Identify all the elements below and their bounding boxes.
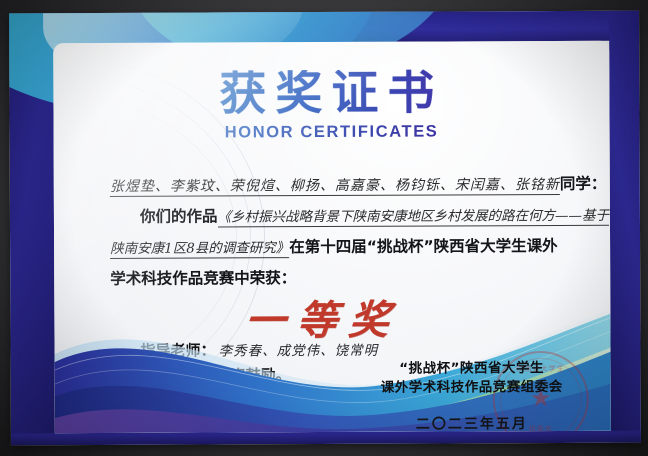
certificate-document: 获奖证书 HONOR CERTIFICATES 张煜垫、李紫玟、荣倪煊、柳扬、高… (0, 0, 648, 456)
issuer-line-2: 课外学术科技作品竞赛组委会 (381, 378, 563, 398)
certificate-paper: 获奖证书 HONOR CERTIFICATES 张煜垫、李紫玟、荣倪煊、柳扬、高… (53, 41, 611, 433)
competition-result-label: 学术科技作品竞赛中荣获： (110, 269, 296, 288)
work-label: 你们的作品 (140, 207, 218, 225)
advisor-names: 李秀春、成党伟、饶常明 (219, 343, 379, 360)
issuer-block: “挑战杯”陕西省大学生 课外学术科技作品竞赛组委会 二〇二三年五月 (381, 359, 563, 433)
certificate-card: 获奖证书 HONOR CERTIFICATES 张煜垫、李紫玟、荣倪煊、柳扬、高… (9, 11, 641, 446)
closing-statement: 特颁此证，以资鼓励。 (141, 364, 291, 386)
award-level: 一等奖 (242, 288, 404, 347)
issuer-line-1: “挑战杯”陕西省大学生 (381, 359, 563, 379)
frame-border-right (609, 11, 641, 443)
certificate-body: 张煜垫、李紫玟、荣倪煊、柳扬、高嘉豪、杨钧铄、宋闰嘉、张铭新同学： 你们的作品《… (110, 169, 573, 294)
advisor-label: 指导老师： (140, 341, 215, 359)
advisor-row: 指导老师：李秀春、成党伟、饶常明 (140, 339, 378, 361)
recipient-names: 张煜垫、李紫玟、荣倪煊、柳扬、高嘉豪、杨钧铄、宋闰嘉、张铭新 (110, 177, 560, 197)
work-line-2: 陕南安康1区8县的调查研究》在第十四届“挑战杯”陕西省大学生课外 (110, 231, 572, 264)
certificate-title-en: HONOR CERTIFICATES (54, 122, 610, 143)
work-title-line-1: 《乡村振兴战略背景下陕南安康地区乡村发展的路在何方——基于 (217, 208, 609, 228)
work-line-1: 你们的作品《乡村振兴战略背景下陕南安康地区乡村发展的路在何方——基于 (110, 200, 572, 233)
issue-date: 二〇二三年五月 (381, 413, 563, 433)
work-title-line-2: 陕南安康1区8县的调查研究》 (110, 240, 289, 259)
title-block: 获奖证书 HONOR CERTIFICATES (53, 69, 609, 143)
certificate-title-cn: 获奖证书 (53, 69, 609, 118)
recipients-suffix: 同学： (560, 175, 607, 193)
recipients-line: 张煜垫、李紫玟、荣倪煊、柳扬、高嘉豪、杨钧铄、宋闰嘉、张铭新同学： (110, 169, 572, 202)
competition-name: 在第十四届“挑战杯”陕西省大学生课外 (289, 237, 557, 256)
